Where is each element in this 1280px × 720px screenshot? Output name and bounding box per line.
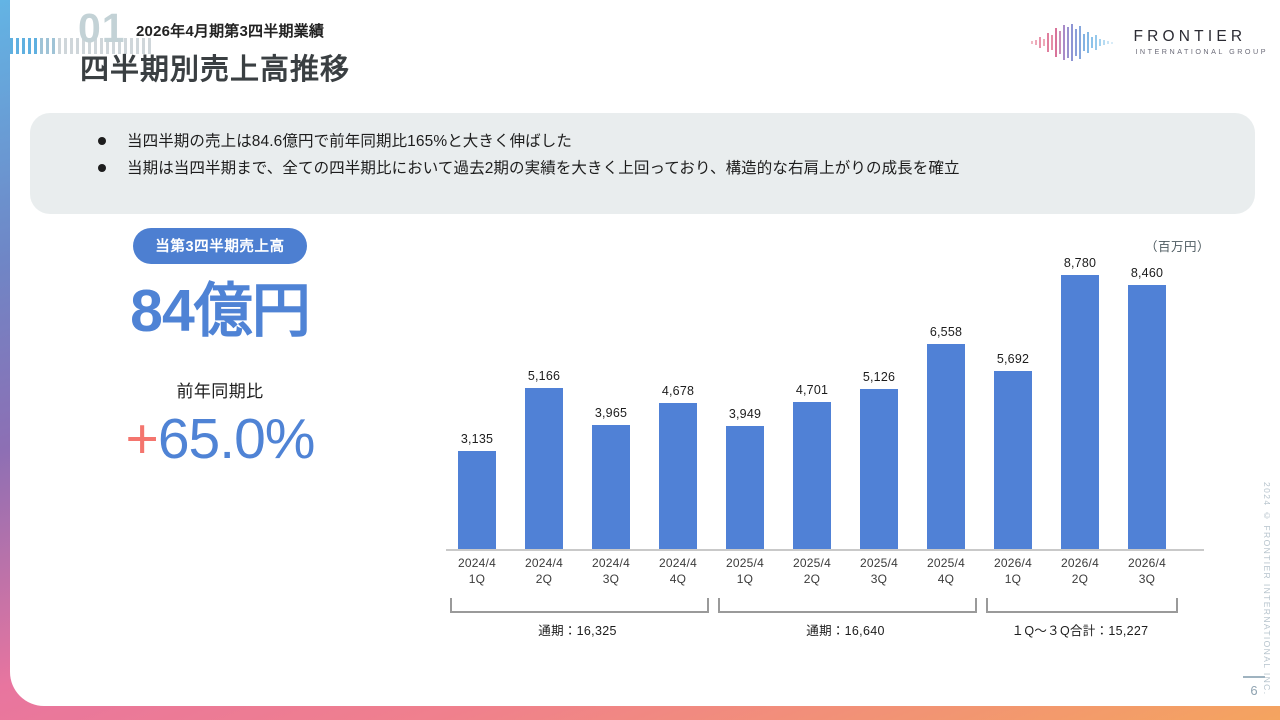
waveform-icon <box>1029 22 1121 62</box>
chart-x-tick-label: 2024/43Q <box>576 555 646 587</box>
chart-group-total-label: 通期：16,640 <box>718 620 973 639</box>
list-item: 当期は当四半期まで、全ての四半期比において過去2期の実績を大きく上回っており、構… <box>98 157 960 180</box>
chart-bar <box>793 402 831 549</box>
chart-bar-value-label: 8,460 <box>1112 266 1182 280</box>
summary-panel: 当四半期の売上は84.6億円で前年同期比165%と大きく伸ばした 当期は当四半期… <box>30 113 1255 214</box>
chart-unit-label: （百万円） <box>1145 236 1210 255</box>
kpi-yoy-value: +65.0% <box>10 411 430 468</box>
bullet-dot-icon <box>98 164 106 172</box>
copyright-text: 2024 © FRONTIER INTERNATIONAL INC. <box>1262 482 1272 695</box>
brand-name: FRONTIER <box>1133 29 1268 45</box>
page-title: 四半期別売上高推移 <box>80 56 350 85</box>
chart-group-total-label: 通期：16,325 <box>450 620 705 639</box>
chart-bar-value-label: 4,678 <box>643 384 713 398</box>
chart-bar <box>592 425 630 549</box>
brand-wordmark: FRONTIER INTERNATIONAL GROUP <box>1133 29 1268 56</box>
chart-x-tick-label: 2025/42Q <box>777 555 847 587</box>
chart-bar-value-label: 5,126 <box>844 370 914 384</box>
bullet-text: 当四半期の売上は84.6億円で前年同期比165%と大きく伸ばした <box>127 130 572 153</box>
chart-bar-value-label: 4,701 <box>777 383 847 397</box>
chart-group-total-label: １Q～３Q合計：15,227 <box>986 620 1174 639</box>
chart-plot-area: 3,1355,1663,9654,6783,9494,7015,1266,558… <box>446 262 1204 549</box>
chart-bar <box>659 403 697 549</box>
chart-x-tick-label: 2024/41Q <box>442 555 512 587</box>
chart-bar <box>726 426 764 549</box>
section-eyebrow: 2026年4月期第3四半期業績 <box>136 20 324 41</box>
chart-x-tick-label: 2024/44Q <box>643 555 713 587</box>
chart-bar <box>927 344 965 549</box>
chart-bar <box>525 388 563 549</box>
brand-logo: FRONTIER INTERNATIONAL GROUP <box>1029 22 1268 62</box>
chart-group-bracket <box>450 598 709 613</box>
bullet-dot-icon <box>98 137 106 145</box>
kpi-yoy-number: 65.0% <box>158 407 315 471</box>
chart-bar-value-label: 3,949 <box>710 407 780 421</box>
kpi-block: 当第3四半期売上高 84億円 前年同期比 +65.0% <box>10 228 430 468</box>
slide-header: 01 2026年4月期第3四半期業績 四半期別売上高推移 <box>10 0 1280 108</box>
summary-bullet-list: 当四半期の売上は84.6億円で前年同期比165%と大きく伸ばした 当期は当四半期… <box>98 130 960 185</box>
chart-bar-value-label: 3,135 <box>442 432 512 446</box>
chart-x-tick-label: 2026/41Q <box>978 555 1048 587</box>
chart-bar-value-label: 8,780 <box>1045 256 1115 270</box>
chart-x-tick-label: 2025/44Q <box>911 555 981 587</box>
chart-bar <box>1061 275 1099 549</box>
quarterly-revenue-bar-chart: （百万円） 3,1355,1663,9654,6783,9494,7015,12… <box>430 228 1220 648</box>
chart-x-tick-label: 2026/42Q <box>1045 555 1115 587</box>
bullet-text: 当期は当四半期まで、全ての四半期比において過去2期の実績を大きく上回っており、構… <box>127 157 960 180</box>
page-number: 6 <box>1244 683 1264 698</box>
chart-bar-value-label: 6,558 <box>911 325 981 339</box>
list-item: 当四半期の売上は84.6億円で前年同期比165%と大きく伸ばした <box>98 130 960 153</box>
chart-x-axis <box>446 549 1204 551</box>
chart-x-tick-label: 2026/43Q <box>1112 555 1182 587</box>
chart-bar-value-label: 3,965 <box>576 406 646 420</box>
page-number-rule <box>1243 676 1265 678</box>
chart-group-bracket <box>718 598 977 613</box>
kpi-yoy-label: 前年同期比 <box>10 377 430 402</box>
chart-x-tick-label: 2025/41Q <box>710 555 780 587</box>
slide-page-surface: 01 2026年4月期第3四半期業績 四半期別売上高推移 <box>10 0 1280 706</box>
status-badge: 当第3四半期売上高 <box>133 228 306 264</box>
slide: 01 2026年4月期第3四半期業績 四半期別売上高推移 <box>0 0 1280 720</box>
chart-bar <box>994 371 1032 549</box>
brand-subtitle: INTERNATIONAL GROUP <box>1135 48 1268 55</box>
chart-x-tick-label: 2025/43Q <box>844 555 914 587</box>
kpi-primary-value: 84億円 <box>10 282 430 341</box>
chart-group-bracket <box>986 598 1178 613</box>
chart-x-tick-label: 2024/42Q <box>509 555 579 587</box>
chart-bar-value-label: 5,692 <box>978 352 1048 366</box>
chart-bar <box>458 451 496 549</box>
chart-bar <box>1128 285 1166 549</box>
section-number: 01 <box>78 8 126 49</box>
chart-bar <box>860 389 898 549</box>
kpi-yoy-sign: + <box>126 407 158 471</box>
chart-bar-value-label: 5,166 <box>509 369 579 383</box>
